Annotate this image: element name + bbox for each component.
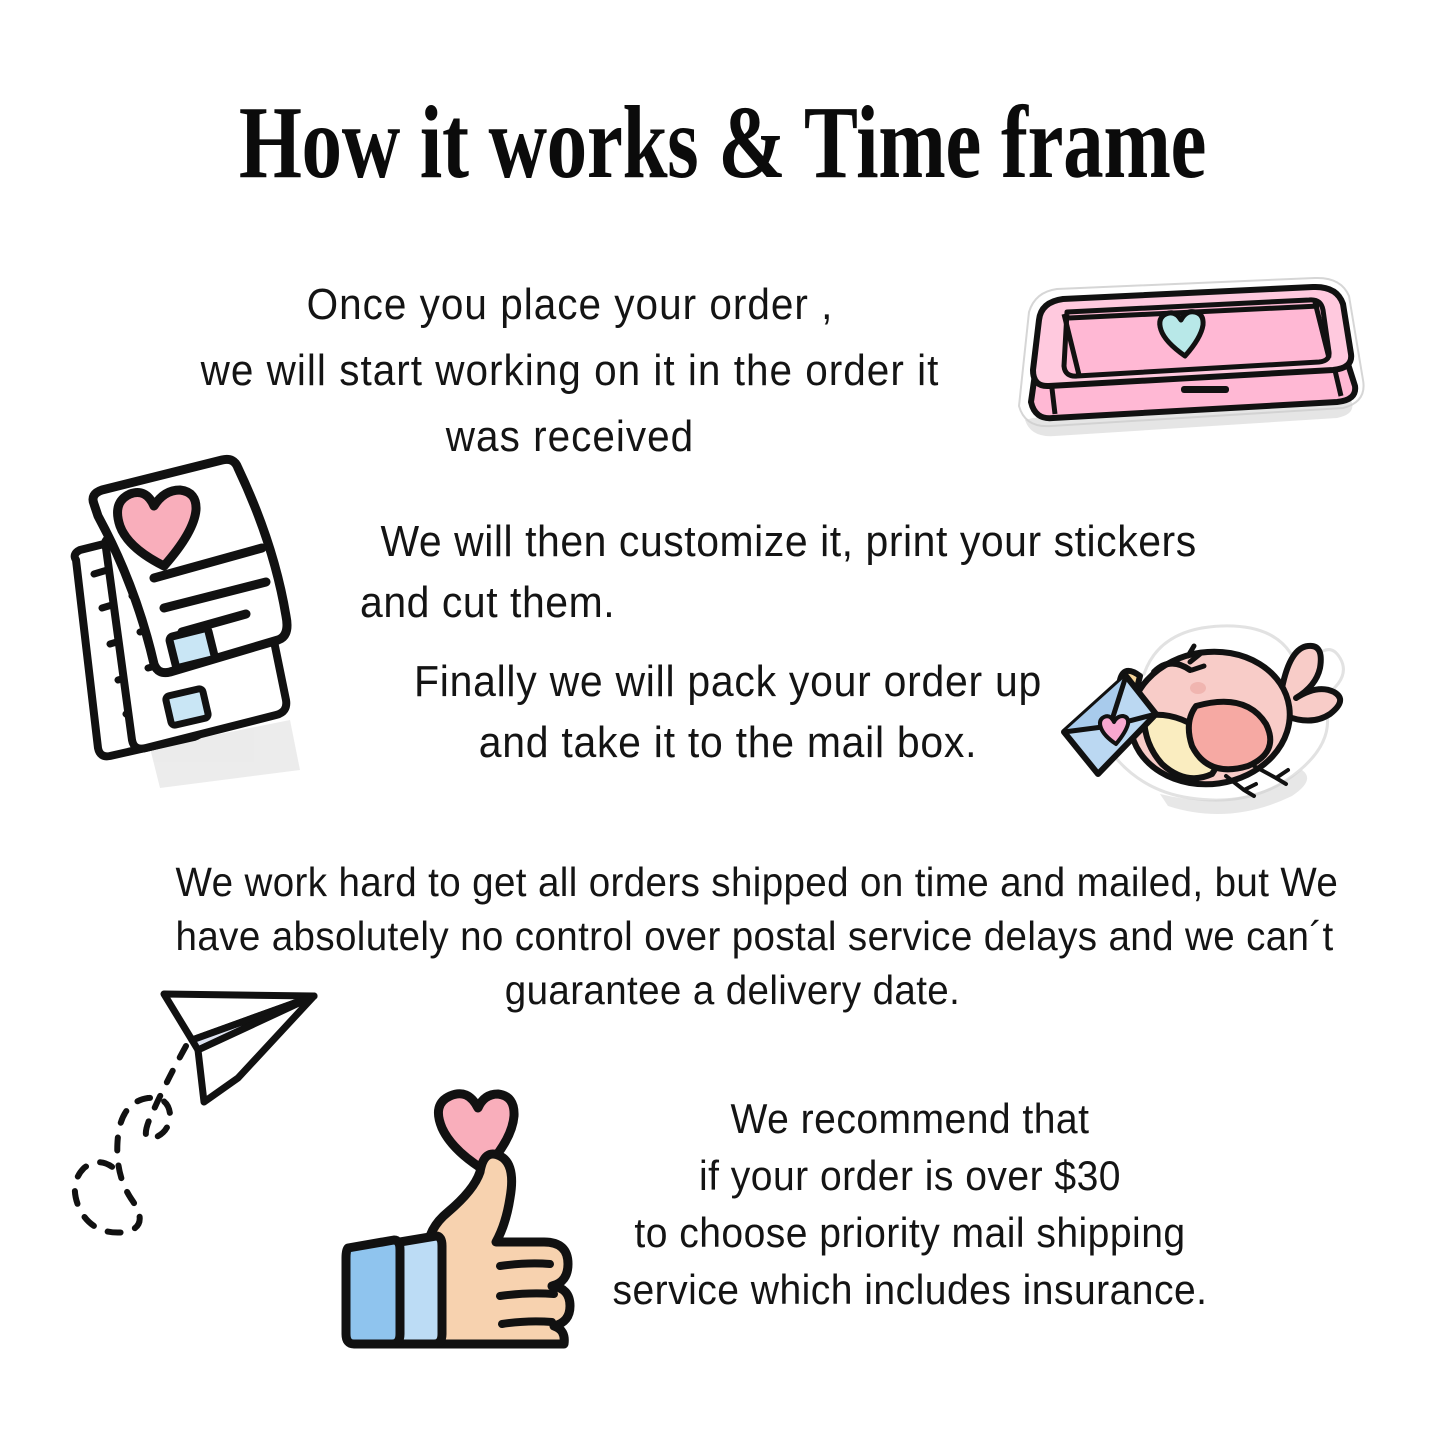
step-customize-line-1: We will then customize it, print your st… bbox=[360, 512, 1253, 573]
step-order-placed-text: Once you place your order , we will star… bbox=[120, 272, 1020, 470]
bird-belly bbox=[1189, 702, 1270, 770]
step-pack-line-2: and take it to the mail box. bbox=[375, 713, 1082, 774]
bird-blush bbox=[1190, 682, 1206, 694]
airplane-trail bbox=[75, 1046, 186, 1233]
hand bbox=[428, 1154, 570, 1344]
step-pack-line-1: Finally we will pack your order up bbox=[375, 652, 1082, 713]
recommendation-line-2: if your order is over $30 bbox=[585, 1147, 1236, 1204]
priority-mail-recommendation: We recommend that if your order is over … bbox=[560, 1090, 1260, 1318]
recommendation-line-1: We recommend that bbox=[585, 1090, 1236, 1147]
page-title: How it works & Time frame bbox=[159, 88, 1286, 197]
step-pack-text: Finally we will pack your order up and t… bbox=[348, 652, 1108, 773]
step-customize-text: We will then customize it, print your st… bbox=[360, 512, 1320, 633]
cutting-machine-icon bbox=[985, 268, 1375, 448]
recommendation-line-3: to choose priority mail shipping bbox=[585, 1204, 1236, 1261]
mail-bird-icon bbox=[1040, 618, 1360, 843]
thumbs-up-icon bbox=[332, 1082, 594, 1344]
step-order-placed-line-1: Once you place your order , bbox=[156, 272, 984, 338]
infographic-page: How it works & Time frame Once you place… bbox=[0, 0, 1445, 1445]
blue-tab-icon bbox=[169, 628, 216, 669]
recommendation-line-4: service which includes insurance. bbox=[585, 1261, 1236, 1318]
blue-tab-icon bbox=[165, 688, 209, 726]
sleeve bbox=[346, 1240, 400, 1344]
sticker-sheets-icon bbox=[50, 448, 350, 793]
shipping-note-line-1: We work hard to get all orders shipped o… bbox=[176, 855, 1290, 909]
step-order-placed-line-2: we will start working on it in the order… bbox=[156, 338, 984, 404]
shipping-note-line-2: have absolutely no control over postal s… bbox=[176, 909, 1290, 963]
paper-airplane-icon bbox=[58, 978, 343, 1253]
